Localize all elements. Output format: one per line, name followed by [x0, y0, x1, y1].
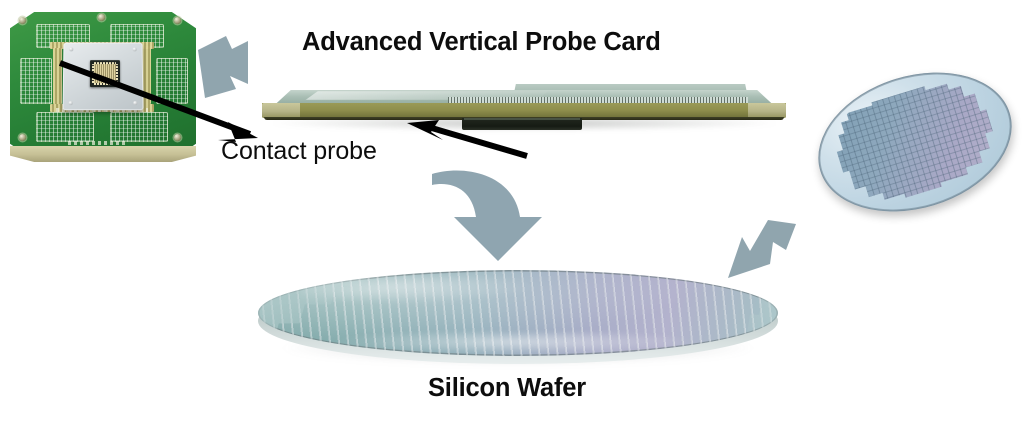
arrow-small-wafer-to-wafer — [726, 220, 798, 282]
silicon-wafer-small — [816, 76, 1014, 208]
pcb-mounting-hole — [98, 14, 105, 21]
page-title-silicon-wafer: Silicon Wafer — [428, 374, 586, 403]
arrow-probe-block-callout — [405, 118, 529, 160]
page-title-probe-card: Advanced Vertical Probe Card — [302, 28, 661, 57]
pcb-mounting-hole — [174, 17, 181, 24]
plate-screw — [69, 47, 73, 51]
wafer-small-rim — [801, 50, 1024, 234]
label-contact-probe: Contact probe — [221, 137, 377, 166]
board-substrate-body — [262, 103, 786, 118]
plate-screw — [133, 47, 137, 51]
pcb-substrate-edge — [10, 146, 196, 162]
pcb-pad-array — [20, 58, 52, 104]
wafer-large-highlight — [300, 275, 539, 304]
silicon-wafer-large — [258, 270, 778, 372]
diagram-canvas: Advanced Vertical Probe Card Contact pro… — [0, 0, 1024, 426]
wafer-large-lower-highlight — [331, 332, 695, 354]
pcb-mounting-hole — [19, 17, 26, 24]
board-end-cap-right — [748, 103, 786, 118]
wafer-large-surface — [258, 270, 778, 356]
arrow-probe-card-to-wafer — [430, 165, 556, 263]
pcb-mounting-hole — [19, 134, 26, 141]
arrow-chip-to-contact-probe-label — [58, 60, 268, 146]
